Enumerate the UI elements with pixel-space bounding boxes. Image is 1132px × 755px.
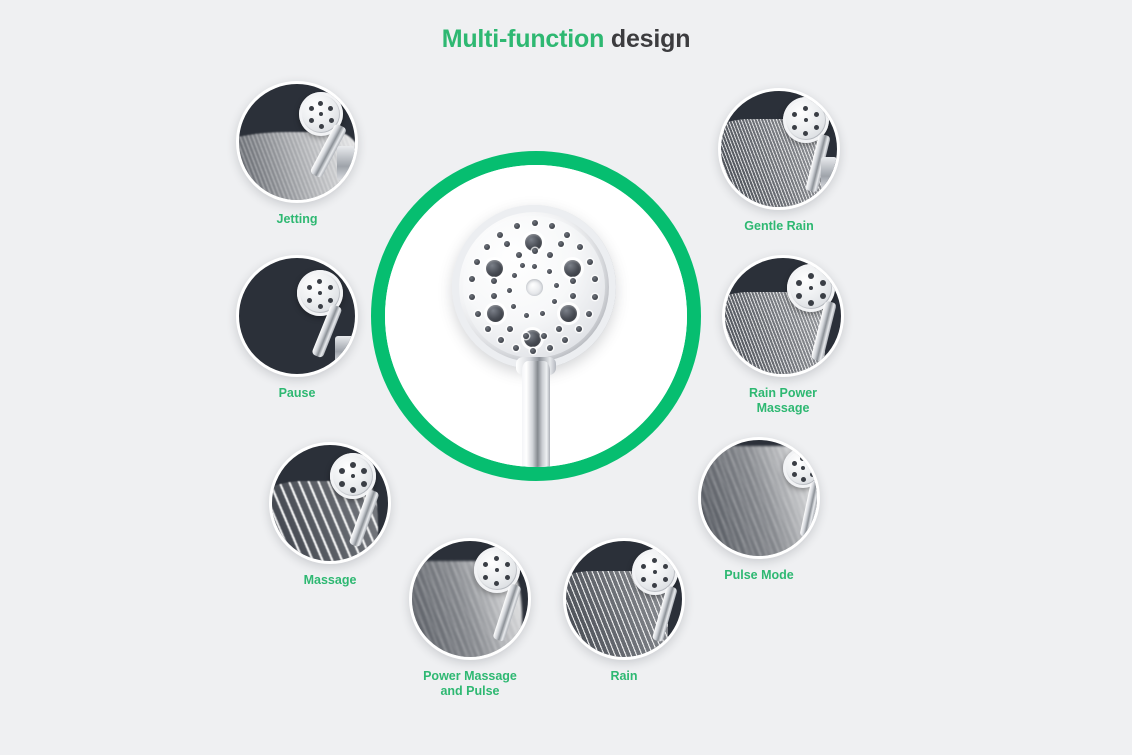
nozzle-small (570, 278, 576, 284)
nozzle-small (556, 326, 562, 332)
feature-gentle-rain-label: Gentle Rain (718, 219, 840, 234)
feature-rain[interactable]: Rain (563, 538, 685, 684)
nozzle-small (474, 259, 480, 265)
feature-pulse-mode-label: Pulse Mode (698, 568, 820, 583)
feature-rain-photo (563, 538, 685, 660)
nozzle-small (576, 326, 582, 332)
nozzle-small (549, 223, 555, 229)
nozzle-large (560, 305, 577, 322)
wall-bracket (335, 336, 355, 362)
nozzle-small (511, 304, 516, 309)
nozzle-small (523, 333, 529, 339)
feature-power-massage-and-pulse-photo (409, 538, 531, 660)
nozzle-small (592, 294, 598, 300)
wall-bracket (337, 146, 355, 180)
nozzle-small (532, 264, 537, 269)
nozzle-small (530, 348, 536, 354)
feature-jetting-photo (236, 81, 358, 203)
nozzle-small (592, 276, 598, 282)
shower-head-handle (522, 361, 550, 481)
wall-bracket (821, 157, 837, 189)
nozzle-small (516, 252, 522, 258)
nozzle-small (547, 269, 552, 274)
nozzle-small (564, 232, 570, 238)
nozzle-small (540, 311, 545, 316)
feature-pause-label: Pause (236, 386, 358, 401)
feature-massage-label: Massage (269, 573, 391, 588)
feature-rain-power-massage-label: Rain Power Massage (722, 386, 844, 416)
nozzle-small (498, 337, 504, 343)
nozzle-small (547, 345, 553, 351)
nozzle-small (485, 326, 491, 332)
hero-product-circle (371, 151, 701, 481)
mini-nozzle-plate (334, 457, 372, 495)
nozzle-small (507, 326, 513, 332)
nozzle-small (512, 273, 517, 278)
nozzle-large (486, 260, 503, 277)
feature-pulse-mode-photo (698, 437, 820, 559)
nozzle-small (514, 223, 520, 229)
nozzle-small (587, 259, 593, 265)
nozzle-small (469, 276, 475, 282)
feature-power-massage-and-pulse[interactable]: Power Massage and Pulse (409, 538, 531, 699)
shower-head-face (452, 205, 616, 369)
feature-rain-power-massage[interactable]: Rain Power Massage (722, 255, 844, 416)
nozzle-small (558, 241, 564, 247)
nozzle-small (570, 293, 576, 299)
feature-gentle-rain[interactable]: Gentle Rain (718, 88, 840, 234)
nozzle-small (504, 241, 510, 247)
nozzle-small (554, 283, 559, 288)
feature-jetting[interactable]: Jetting (236, 81, 358, 227)
nozzle-small (469, 294, 475, 300)
feature-rain-power-massage-photo (722, 255, 844, 377)
nozzle-small (497, 232, 503, 238)
nozzle-small (541, 333, 547, 339)
nozzle-small (552, 299, 557, 304)
mini-nozzle-plate (787, 452, 819, 484)
nozzle-small (577, 244, 583, 250)
feature-pause-photo (236, 255, 358, 377)
nozzle-small (547, 252, 553, 258)
mini-nozzle-plate (787, 101, 825, 139)
nozzle-small (513, 345, 519, 351)
feature-massage-photo (269, 442, 391, 564)
feature-power-massage-and-pulse-label: Power Massage and Pulse (409, 669, 531, 699)
feature-gentle-rain-photo (718, 88, 840, 210)
nozzle-small (562, 337, 568, 343)
center-outlet (526, 279, 543, 296)
nozzle-small (491, 293, 497, 299)
mini-handle (799, 481, 820, 538)
feature-pulse-mode[interactable]: Pulse Mode (698, 437, 820, 583)
nozzle-small (532, 248, 538, 254)
nozzle-large (564, 260, 581, 277)
nozzle-small (475, 311, 481, 317)
feature-diagram: Jetting Pause (0, 0, 1132, 755)
nozzle-small (532, 220, 538, 226)
nozzle-small (507, 288, 512, 293)
feature-massage[interactable]: Massage (269, 442, 391, 588)
nozzle-small (586, 311, 592, 317)
shower-head-nozzle-plate (463, 216, 605, 358)
nozzle-small (520, 263, 525, 268)
hero-photo (385, 165, 687, 467)
feature-pause[interactable]: Pause (236, 255, 358, 401)
nozzle-small (524, 313, 529, 318)
feature-jetting-label: Jetting (236, 212, 358, 227)
nozzle-small (484, 244, 490, 250)
nozzle-small (491, 278, 497, 284)
feature-rain-label: Rain (563, 669, 685, 684)
nozzle-large (487, 305, 504, 322)
